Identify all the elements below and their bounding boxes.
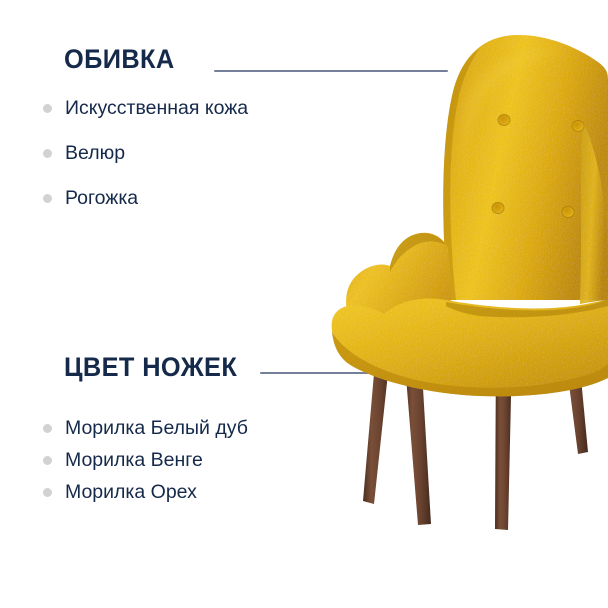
- list-item: Морилка Белый дуб: [0, 416, 248, 440]
- leg-color-option-list: Морилка Белый дуб Морилка Венге Морилка …: [0, 416, 248, 512]
- list-item-label: Морилка Белый дуб: [65, 417, 248, 439]
- bullet-dot-icon: [43, 488, 52, 497]
- list-item: Искусственная кожа: [0, 96, 248, 120]
- bullet-dot-icon: [43, 194, 52, 203]
- list-item-label: Рогожка: [65, 187, 138, 209]
- list-item-label: Велюр: [65, 142, 125, 164]
- list-item-label: Морилка Орех: [65, 481, 197, 503]
- product-spec-card: ОБИВКА Искусственная кожа Велюр Рогожка …: [0, 0, 608, 608]
- list-item: Велюр: [0, 141, 248, 165]
- bullet-dot-icon: [43, 456, 52, 465]
- bullet-dot-icon: [43, 104, 52, 113]
- bullet-dot-icon: [43, 424, 52, 433]
- list-item: Рогожка: [0, 186, 248, 210]
- armchair-photo: [330, 0, 608, 608]
- upholstery-option-list: Искусственная кожа Велюр Рогожка: [0, 96, 248, 231]
- list-item: Морилка Орех: [0, 480, 248, 504]
- bullet-dot-icon: [43, 149, 52, 158]
- list-item-label: Морилка Венге: [65, 449, 203, 471]
- page-title-upholstery: ОБИВКА: [64, 44, 175, 74]
- list-item: Морилка Венге: [0, 448, 248, 472]
- list-item-label: Искусственная кожа: [65, 97, 248, 119]
- page-title-leg-color: ЦВЕТ НОЖЕК: [64, 352, 237, 382]
